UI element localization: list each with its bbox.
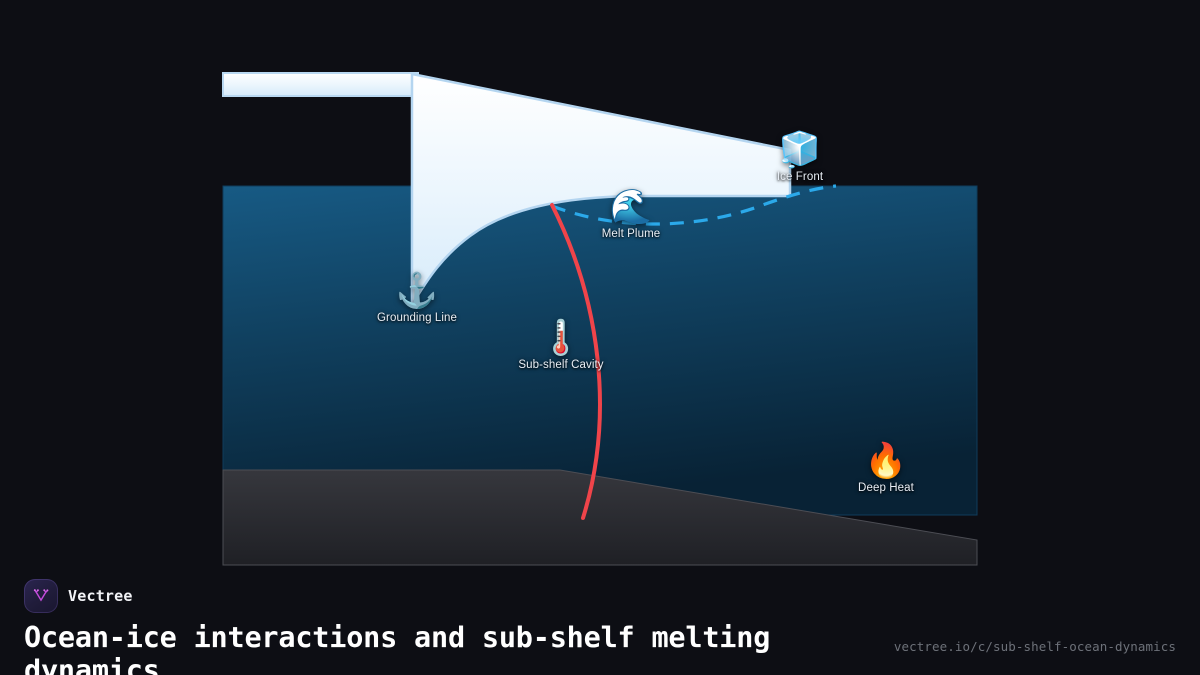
ocean-region: [223, 186, 977, 515]
brand-name: Vectree: [68, 587, 133, 605]
vectree-tree-logo-icon: [24, 579, 58, 613]
slide-canvas: 🧊 Ice Front 🌊 Melt Plume ⚓ Grounding Lin…: [0, 0, 1200, 675]
grounded-ice-region: [223, 73, 418, 96]
source-url: vectree.io/c/sub-shelf-ocean-dynamics: [894, 639, 1176, 654]
page-title: Ocean-ice interactions and sub-shelf mel…: [24, 621, 844, 675]
brand[interactable]: Vectree: [24, 579, 133, 613]
footer: Vectree Ocean-ice interactions and sub-s…: [0, 555, 1200, 675]
